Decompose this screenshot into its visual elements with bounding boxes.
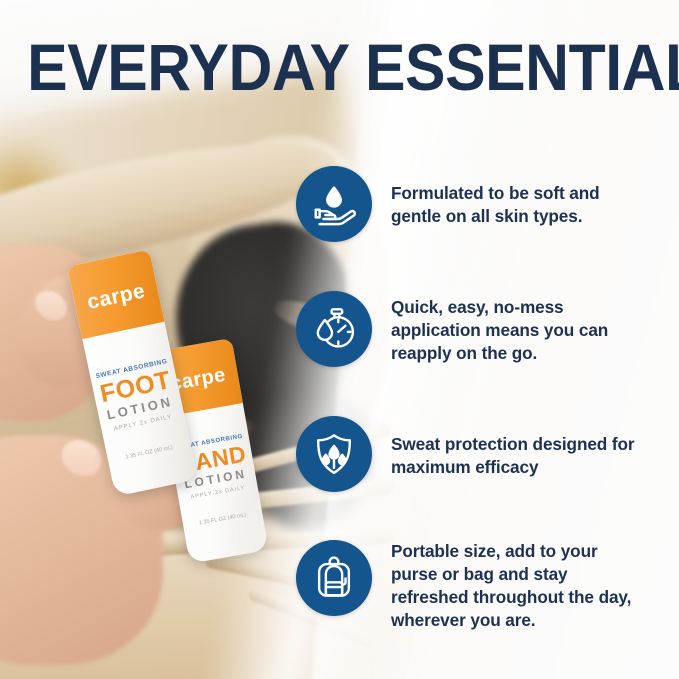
product-volume: 1.35 FL OZ (40 mL) bbox=[108, 441, 191, 464]
feature-item-formulation: Formulated to be soft and gentle on all … bbox=[296, 166, 641, 242]
feature-item-protection: Sweat protection designed for maximum ef… bbox=[296, 416, 641, 492]
shield-droplet-icon bbox=[296, 416, 372, 492]
feature-text: Formulated to be soft and gentle on all … bbox=[391, 166, 641, 228]
feature-text: Sweat protection designed for maximum ef… bbox=[391, 416, 641, 479]
feature-text: Quick, easy, no-mess application means y… bbox=[391, 291, 641, 365]
feature-item-application: Quick, easy, no-mess application means y… bbox=[296, 291, 641, 367]
backpack-icon bbox=[296, 540, 372, 616]
feature-item-portability: Portable size, add to your purse or bag … bbox=[296, 540, 641, 632]
page-title: EVERYDAY ESSENTIALS bbox=[27, 34, 652, 100]
everyday-essentials-infographic: carpe SWEAT ABSORBING HAND LOTION APPLY … bbox=[0, 0, 679, 679]
feature-text: Portable size, add to your purse or bag … bbox=[391, 540, 641, 632]
hand-holding-droplet-icon bbox=[296, 166, 372, 242]
stopwatch-droplet-icon bbox=[296, 291, 372, 367]
